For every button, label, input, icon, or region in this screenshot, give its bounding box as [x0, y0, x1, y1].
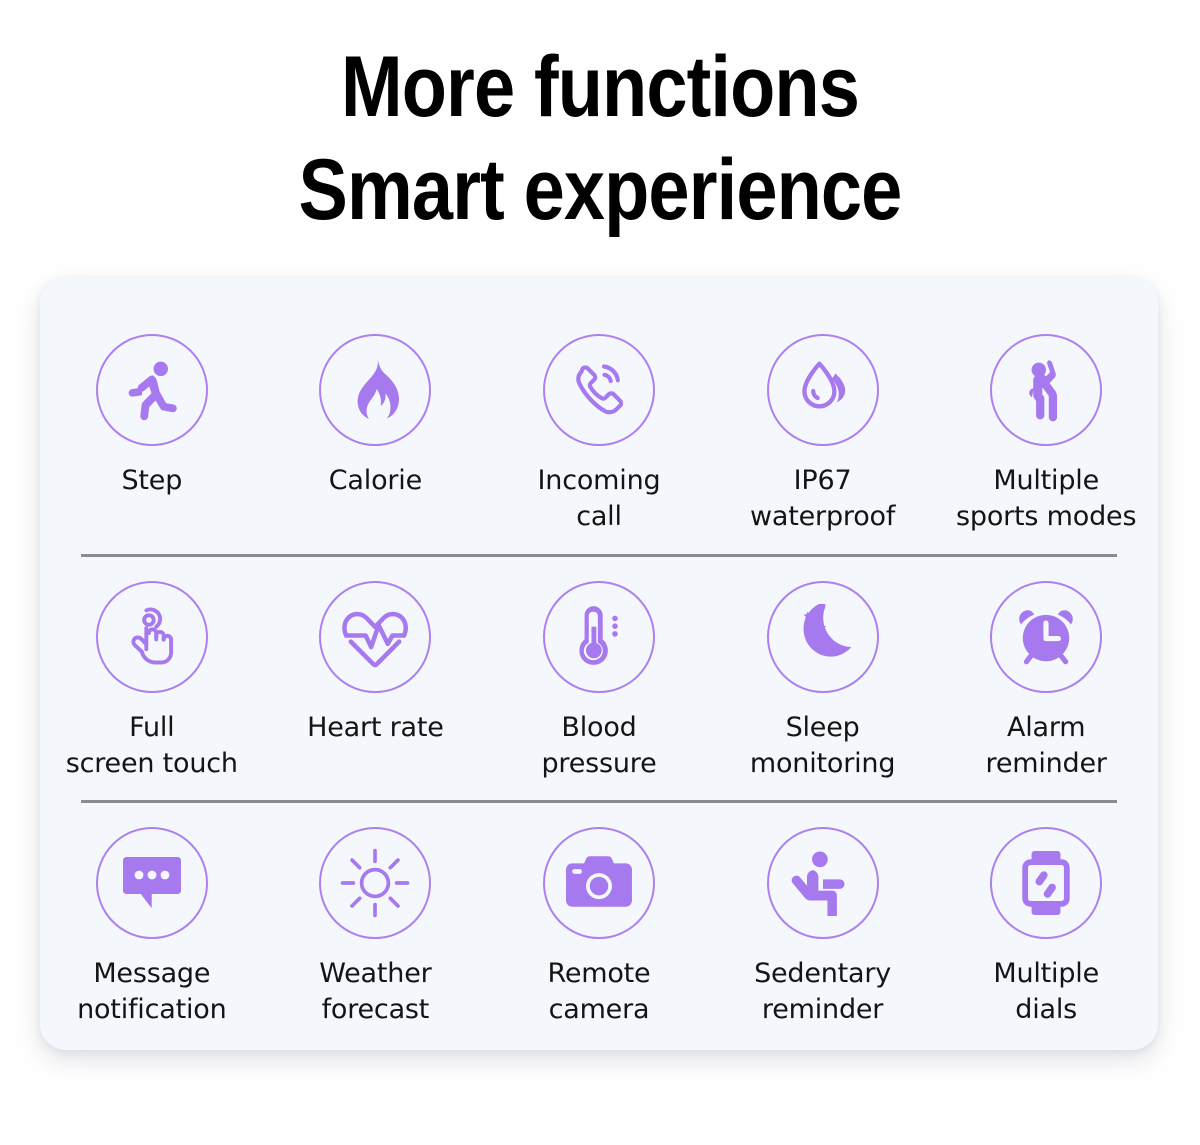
feature-incoming-call[interactable]: Incoming call	[487, 334, 711, 535]
touch-hand-icon	[96, 581, 208, 693]
feature-label: Sleep monitoring	[750, 710, 895, 782]
running-person-icon	[96, 334, 208, 446]
water-drop-icon	[767, 334, 879, 446]
feature-label: Heart rate	[307, 710, 444, 746]
features-grid: Step Calorie Incoming	[40, 278, 1158, 1050]
feature-label: Message notification	[77, 956, 226, 1028]
feature-sleep-monitoring[interactable]: Sleep monitoring	[711, 581, 935, 782]
feature-full-screen-touch[interactable]: Full screen touch	[40, 581, 264, 782]
feature-label: Blood pressure	[541, 710, 656, 782]
page-title-line-1: More functions	[84, 36, 1116, 139]
features-row-1: Step Calorie Incoming	[40, 278, 1158, 557]
feature-label: Alarm reminder	[986, 710, 1107, 782]
stretching-person-icon	[990, 334, 1102, 446]
feature-blood-pressure[interactable]: Blood pressure	[487, 581, 711, 782]
page-title-line-2: Smart experience	[84, 139, 1116, 242]
features-row-2: Full screen touch Heart rate	[40, 557, 1158, 804]
feature-step[interactable]: Step	[40, 334, 264, 499]
message-bubble-icon	[96, 827, 208, 939]
feature-label: Sedentary reminder	[754, 956, 891, 1028]
page-title: More functions Smart experience	[84, 36, 1116, 242]
feature-label: Calorie	[329, 463, 422, 499]
feature-label: Remote camera	[547, 956, 650, 1028]
sun-icon	[319, 827, 431, 939]
features-card: Step Calorie Incoming	[40, 278, 1158, 1050]
feature-alarm-reminder[interactable]: Alarm reminder	[934, 581, 1158, 782]
feature-label: Multiple dials	[993, 956, 1099, 1028]
features-row-3: Message notification	[40, 803, 1158, 1050]
feature-label: Step	[121, 463, 182, 499]
feature-sedentary-reminder[interactable]: Sedentary reminder	[711, 827, 935, 1028]
feature-label: Incoming call	[538, 463, 661, 535]
feature-label: IP67 waterproof	[750, 463, 895, 535]
feature-weather-forecast[interactable]: Weather forecast	[264, 827, 488, 1028]
feature-label: Weather forecast	[319, 956, 431, 1028]
smartwatch-icon	[990, 827, 1102, 939]
feature-multiple-dials[interactable]: Multiple dials	[934, 827, 1158, 1028]
feature-heart-rate[interactable]: Heart rate	[264, 581, 488, 746]
thermometer-icon	[543, 581, 655, 693]
feature-label: Multiple sports modes	[956, 463, 1136, 535]
feature-calorie[interactable]: Calorie	[264, 334, 488, 499]
feature-label: Full screen touch	[66, 710, 238, 782]
feature-waterproof[interactable]: IP67 waterproof	[711, 334, 935, 535]
feature-remote-camera[interactable]: Remote camera	[487, 827, 711, 1028]
moon-stars-icon	[767, 581, 879, 693]
incoming-call-icon	[543, 334, 655, 446]
seated-person-icon	[767, 827, 879, 939]
alarm-clock-icon	[990, 581, 1102, 693]
feature-message-notification[interactable]: Message notification	[40, 827, 264, 1028]
camera-icon	[543, 827, 655, 939]
feature-sports-modes[interactable]: Multiple sports modes	[934, 334, 1158, 535]
heart-pulse-icon	[319, 581, 431, 693]
flame-icon	[319, 334, 431, 446]
